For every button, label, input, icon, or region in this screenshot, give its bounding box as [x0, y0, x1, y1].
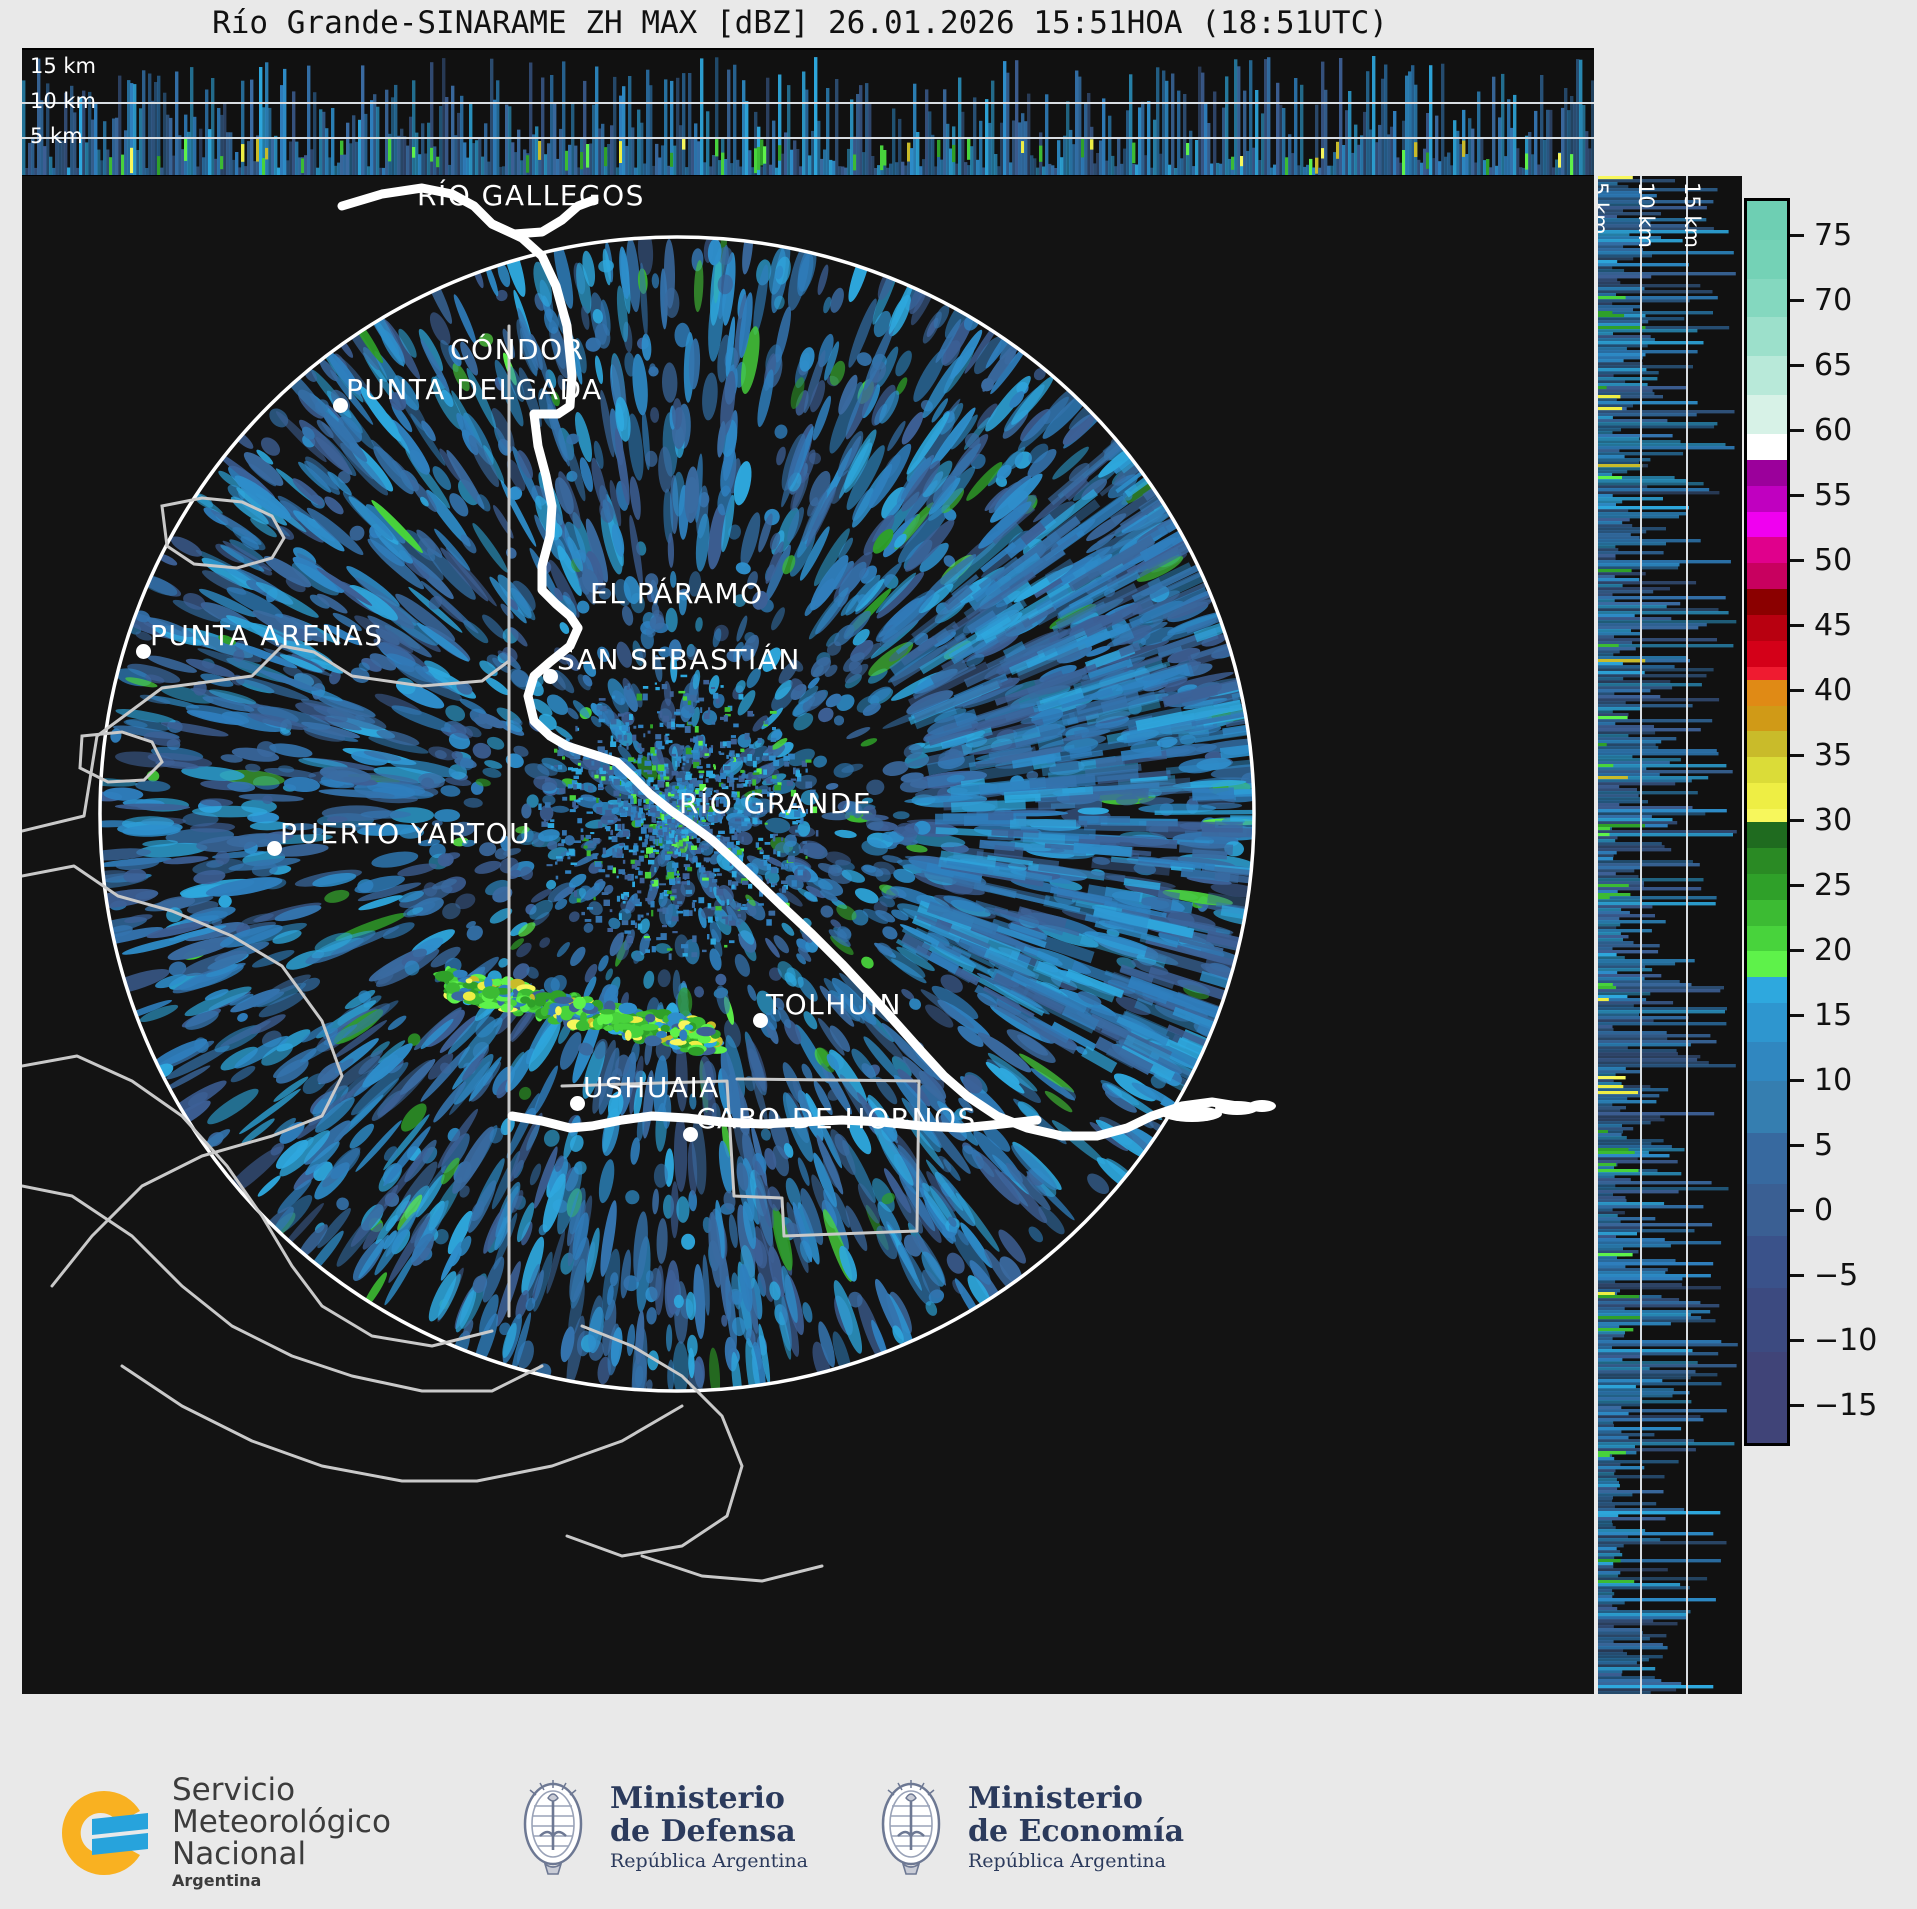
radar-clutter — [706, 771, 713, 777]
radar-clutter — [724, 945, 727, 948]
cross-section-column-bright — [388, 138, 391, 161]
cross-section-column — [1042, 167, 1045, 176]
radar-clutter — [591, 772, 593, 777]
cross-section-column — [1108, 116, 1111, 175]
radar-clutter — [670, 824, 675, 828]
radar-clutter — [692, 935, 696, 942]
radar-clutter — [577, 898, 581, 902]
cross-section-column — [1012, 121, 1015, 176]
radar-clutter — [700, 707, 702, 713]
radar-clutter — [548, 823, 555, 828]
radar-clutter — [633, 726, 636, 729]
cross-section-column — [814, 57, 817, 175]
radar-clutter — [674, 712, 680, 715]
cross-section-column — [427, 123, 430, 175]
cross-section-column — [1267, 57, 1270, 175]
radar-echo — [834, 829, 857, 839]
radar-clutter — [677, 881, 679, 883]
cross-section-column — [775, 168, 778, 175]
cross-section-column-bright — [853, 155, 856, 171]
cross-section-column — [820, 159, 823, 175]
cross-section-column — [1000, 123, 1003, 175]
cross-section-column — [508, 106, 511, 175]
radar-clutter — [544, 819, 546, 824]
radar-clutter — [721, 685, 724, 688]
cross-section-column — [919, 166, 922, 175]
radar-clutter — [654, 867, 656, 872]
cross-section-column — [583, 81, 586, 175]
radar-echo — [463, 797, 483, 808]
cross-section-column — [439, 106, 442, 175]
cross-section-column-bright — [721, 153, 724, 175]
cross-section-column-bright — [1231, 157, 1234, 170]
cross-section-column — [1534, 111, 1537, 175]
cross-section-column — [1183, 94, 1186, 175]
radar-clutter — [716, 889, 723, 896]
cross-section-column — [1063, 136, 1066, 175]
cross-section-column-bright — [760, 140, 763, 166]
cross-section-column — [550, 75, 553, 175]
cross-section-column-bright — [1336, 142, 1339, 159]
cross-section-column — [523, 150, 526, 176]
radar-clutter — [712, 722, 715, 725]
radar-clutter — [634, 797, 637, 804]
radar-clutter — [617, 798, 621, 802]
radar-clutter — [607, 866, 613, 870]
radar-echo — [596, 1158, 617, 1204]
radar-clutter — [740, 749, 744, 753]
radar-clutter — [641, 915, 644, 918]
cross-section-column — [181, 149, 184, 175]
radar-clutter — [641, 827, 647, 834]
cross-section-column — [694, 123, 697, 175]
radar-clutter — [605, 810, 611, 816]
radar-clutter — [598, 787, 604, 789]
radar-clutter — [686, 890, 693, 894]
cross-section-column — [1015, 60, 1018, 175]
cross-section-column — [127, 80, 130, 175]
cross-section-column — [1078, 77, 1081, 175]
radar-clutter — [664, 776, 670, 779]
radar-clutter — [689, 707, 694, 714]
cross-section-column — [1258, 160, 1261, 175]
radar-clutter — [625, 875, 632, 880]
radar-clutter — [556, 856, 562, 858]
cross-section-column — [607, 144, 610, 175]
radar-clutter — [706, 778, 709, 782]
cross-section-column — [499, 167, 502, 175]
radar-map-panel[interactable]: RÍO GALLEGOSCÓNDORPUNTA DELGADAEL PÁRAMO… — [22, 176, 1594, 1694]
cross-section-column-bright — [1090, 139, 1093, 149]
radar-clutter — [767, 879, 769, 884]
radar-clutter — [621, 698, 624, 704]
radar-clutter — [638, 915, 641, 921]
radar-echo — [815, 705, 836, 725]
radar-clutter — [691, 952, 697, 957]
cross-section-column — [808, 155, 811, 175]
radar-clutter — [550, 819, 554, 822]
cross-section-column — [964, 162, 967, 175]
radar-clutter — [682, 881, 688, 884]
cross-section-column-bright — [1426, 153, 1429, 169]
radar-clutter — [682, 767, 685, 770]
radar-clutter — [658, 765, 665, 771]
cross-section-column — [1264, 59, 1267, 175]
radar-clutter — [659, 837, 662, 843]
radar-echo — [637, 227, 655, 276]
radar-clutter — [643, 818, 646, 820]
cross-section-column — [991, 81, 994, 175]
radar-clutter — [657, 823, 662, 826]
cross-section-column — [1333, 152, 1336, 175]
radar-clutter — [677, 778, 683, 782]
cross-section-column — [1582, 105, 1585, 175]
radar-clutter — [608, 820, 614, 823]
cross-section-column — [361, 65, 364, 175]
cross-section-column — [376, 107, 379, 175]
cross-section-column — [1156, 67, 1159, 175]
cross-section-column — [631, 127, 634, 175]
radar-clutter — [804, 849, 808, 854]
radar-clutter — [725, 919, 728, 925]
cross-section-column — [253, 161, 256, 175]
cross-section-column — [1531, 154, 1534, 175]
radar-clutter — [558, 765, 562, 770]
radar-clutter — [602, 892, 609, 895]
cross-section-column — [421, 123, 424, 175]
cross-section-column — [319, 109, 322, 175]
cross-section-column-bright — [1321, 148, 1324, 158]
cross-section-column — [1444, 157, 1447, 175]
radar-clutter — [795, 770, 800, 776]
cross-section-column — [1318, 168, 1321, 175]
cross-section-column-bright — [1570, 154, 1573, 175]
radar-clutter — [632, 882, 635, 888]
cross-section-column — [484, 123, 487, 175]
radar-clutter — [635, 899, 640, 905]
radar-clutter — [662, 925, 667, 927]
cross-section-column — [682, 73, 685, 175]
radar-clutter — [666, 815, 671, 819]
radar-clutter — [593, 838, 600, 844]
cross-section-column — [592, 105, 595, 175]
cross-section-column — [1117, 138, 1120, 175]
cross-section-column — [1159, 154, 1162, 175]
radar-echo — [845, 725, 871, 741]
radar-clutter — [671, 792, 676, 794]
cross-section-column — [931, 135, 934, 175]
cross-section-column — [475, 140, 478, 175]
cross-section-column — [208, 129, 211, 175]
radar-clutter — [782, 886, 786, 893]
cross-section-column — [1543, 140, 1546, 175]
radar-clutter — [700, 845, 704, 848]
radar-clutter — [547, 864, 553, 866]
cross-section-column-bright — [265, 148, 268, 160]
radar-clutter — [741, 907, 748, 910]
radar-clutter — [733, 778, 739, 780]
cross-section-column — [358, 120, 361, 175]
radar-clutter — [598, 784, 603, 790]
cross-section-column — [1441, 64, 1444, 175]
radar-clutter — [585, 919, 592, 922]
cross-section-column — [118, 76, 121, 175]
radar-echo — [624, 1189, 640, 1205]
cross-section-column-bright — [883, 150, 886, 166]
radar-clutter — [562, 797, 567, 801]
radar-clutter — [707, 934, 709, 939]
cross-section-column — [247, 141, 250, 175]
radar-clutter — [587, 907, 593, 910]
radar-clutter — [677, 761, 680, 767]
cross-section-column — [1027, 94, 1030, 175]
cross-section-column — [976, 160, 979, 175]
radar-clutter — [652, 809, 656, 811]
radar-clutter — [671, 722, 675, 728]
radar-clutter — [697, 736, 704, 741]
radar-clutter — [706, 859, 709, 862]
radar-clutter — [685, 726, 691, 733]
cross-section-column — [994, 154, 997, 175]
radar-clutter — [677, 901, 682, 904]
cross-section-column-bright — [937, 140, 940, 157]
radar-echo — [504, 545, 519, 560]
cross-section-column — [823, 150, 826, 176]
cross-section-column — [1003, 61, 1006, 175]
radar-clutter — [681, 829, 688, 834]
radar-clutter — [559, 788, 565, 794]
radar-clutter — [549, 837, 553, 841]
radar-clutter — [588, 786, 593, 792]
radar-clutter — [574, 776, 580, 779]
cross-section-column — [460, 96, 463, 175]
cross-section-column — [697, 141, 700, 175]
radar-clutter — [663, 716, 669, 722]
cross-section-column — [763, 163, 766, 175]
cross-section-column — [1105, 161, 1108, 175]
radar-clutter — [729, 826, 732, 829]
cross-section-column — [796, 149, 799, 175]
cross-section-column — [406, 146, 409, 175]
cross-section-column — [652, 166, 655, 175]
cross-section-column — [1591, 80, 1594, 175]
radar-clutter — [681, 944, 688, 948]
cross-section-column — [886, 168, 889, 175]
cross-section-column — [1414, 85, 1417, 175]
radar-echo — [567, 944, 588, 968]
radar-clutter — [796, 820, 801, 823]
cross-section-column — [766, 78, 769, 175]
radar-clutter — [644, 805, 647, 810]
radar-clutter — [565, 870, 571, 874]
radar-clutter — [610, 830, 613, 835]
radar-clutter — [641, 850, 645, 852]
radar-clutter — [561, 839, 565, 843]
radar-echo — [818, 903, 835, 920]
radar-clutter — [646, 812, 649, 815]
cross-section-column-bright — [907, 143, 910, 162]
cross-section-column-bright — [619, 141, 622, 163]
radar-clutter — [645, 949, 650, 953]
cross-section-column — [1540, 75, 1543, 175]
radar-clutter — [567, 856, 570, 859]
cross-section-column — [259, 67, 262, 175]
cross-section-column — [1060, 157, 1063, 175]
radar-echo — [491, 503, 516, 540]
cross-section-column — [1432, 158, 1435, 175]
radar-clutter — [619, 843, 624, 846]
radar-clutter — [684, 877, 686, 880]
radar-clutter — [575, 726, 577, 732]
cross-section-column — [1210, 164, 1213, 176]
cross-section-column-bright — [682, 139, 685, 150]
radar-clutter — [627, 743, 629, 750]
radar-clutter — [729, 940, 735, 943]
cross-section-column — [1171, 74, 1174, 176]
radar-clutter — [667, 872, 674, 879]
radar-clutter — [566, 852, 569, 855]
cross-section-column — [67, 168, 70, 176]
cross-section-column — [628, 76, 631, 175]
radar-echo — [651, 273, 659, 288]
cross-section-column — [1192, 166, 1195, 175]
cross-section-column — [1213, 92, 1216, 176]
cross-section-column — [1135, 165, 1138, 176]
cross-section-column — [1576, 59, 1579, 175]
radar-clutter — [758, 738, 762, 743]
cross-section-column — [802, 72, 805, 176]
radar-clutter — [603, 765, 608, 771]
radar-echo — [657, 969, 671, 988]
cross-section-column — [1306, 165, 1309, 175]
radar-clutter — [611, 719, 617, 725]
radar-echo — [537, 935, 552, 950]
radar-clutter — [632, 735, 636, 741]
cross-section-column — [1093, 163, 1096, 175]
radar-echo — [662, 362, 678, 403]
radar-clutter — [645, 898, 652, 901]
cross-section-column — [280, 85, 283, 175]
cross-section-column — [679, 125, 682, 175]
radar-clutter — [663, 827, 668, 832]
cross-section-column — [352, 115, 355, 175]
radar-clutter — [688, 722, 693, 725]
cross-section-column-bright — [1132, 143, 1135, 164]
radar-clutter — [638, 801, 642, 806]
radar-clutter — [597, 705, 603, 710]
cross-section-column — [466, 158, 469, 175]
radar-clutter — [773, 849, 776, 854]
cross-section-column-bright — [1558, 153, 1561, 168]
cross-section-column — [1537, 165, 1540, 176]
radar-clutter — [769, 911, 775, 916]
radar-clutter — [773, 835, 775, 842]
radar-clutter — [667, 948, 672, 950]
cross-section-column — [928, 111, 931, 175]
cross-section-column — [934, 166, 937, 175]
cross-section-column — [1246, 151, 1249, 175]
cross-section-column — [715, 57, 718, 175]
cross-section-column — [1087, 93, 1090, 175]
radar-clutter — [631, 920, 635, 925]
radar-clutter — [666, 908, 668, 914]
radar-clutter — [638, 743, 642, 748]
radar-clutter — [771, 738, 777, 742]
radar-clutter — [695, 726, 699, 733]
radar-clutter — [633, 812, 635, 818]
radar-clutter — [800, 849, 804, 853]
cross-section-column-bright — [565, 151, 568, 171]
cross-section-column — [106, 150, 109, 176]
radar-clutter — [669, 953, 672, 960]
radar-clutter — [639, 808, 643, 814]
radar-clutter — [621, 775, 624, 777]
cross-section-column — [514, 152, 517, 175]
radar-clutter — [638, 870, 640, 875]
radar-clutter — [667, 852, 673, 854]
cross-section-column — [1384, 65, 1387, 176]
radar-clutter — [735, 907, 740, 909]
cross-section-column — [1390, 127, 1393, 175]
radar-clutter — [686, 841, 692, 843]
cross-section-column — [25, 168, 28, 175]
radar-clutter — [622, 824, 625, 831]
cross-section-column-bright — [763, 146, 766, 163]
radar-clutter — [658, 781, 665, 787]
cross-section-column — [1234, 59, 1237, 175]
cross-section-column — [1453, 120, 1456, 175]
cross-section-column — [478, 137, 481, 175]
cross-section-column — [1123, 149, 1126, 175]
radar-clutter — [700, 751, 702, 758]
cross-section-column — [136, 150, 139, 175]
cross-section-column — [1090, 127, 1093, 175]
cross-section-column-bright — [1525, 154, 1528, 170]
radar-echo — [672, 398, 682, 430]
radar-clutter — [806, 856, 808, 859]
cross-section-column-bright — [1240, 156, 1243, 166]
radar-clutter — [595, 861, 602, 867]
cross-section-column — [1096, 153, 1099, 175]
radar-clutter — [702, 878, 709, 881]
cross-section-column — [1489, 167, 1492, 175]
cross-section-column — [349, 143, 352, 175]
radar-echo — [714, 973, 728, 987]
radar-clutter — [605, 874, 609, 877]
cross-section-column — [1099, 141, 1102, 176]
radar-clutter — [587, 850, 591, 856]
radar-clutter — [713, 693, 718, 699]
radar-clutter — [708, 707, 710, 714]
radar-clutter — [638, 758, 642, 764]
radar-echo — [473, 858, 503, 876]
radar-clutter — [666, 782, 670, 787]
radar-clutter — [653, 754, 657, 756]
cross-section-column — [520, 160, 523, 175]
cross-section-column — [1345, 110, 1348, 175]
radar-echo — [168, 533, 205, 561]
radar-echo — [440, 784, 461, 797]
radar-clutter — [635, 876, 638, 879]
cross-section-column — [1504, 156, 1507, 175]
radar-echo — [694, 986, 705, 998]
radar-clutter — [635, 860, 641, 866]
cross-section-column — [946, 124, 949, 175]
cross-section-column — [454, 135, 457, 175]
cross-section-column — [1153, 120, 1156, 175]
radar-clutter — [665, 789, 669, 794]
radar-clutter — [599, 719, 606, 723]
